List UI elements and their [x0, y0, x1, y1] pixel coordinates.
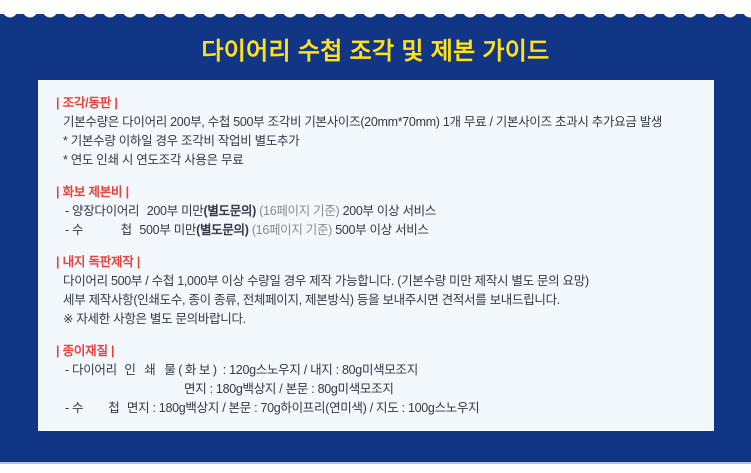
section-heading-engraving: | 조각/동판 | [56, 94, 714, 113]
guide-content-card: | 조각/동판 | 기본수량은 다이어리 200부, 수첩 500부 조각비 기… [38, 80, 714, 431]
guide-page: 다이어리 수첩 조각 및 제본 가이드 | 조각/동판 | 기본수량은 다이어리… [0, 0, 751, 473]
section-engraving: | 조각/동판 | 기본수량은 다이어리 200부, 수첩 500부 조각비 기… [56, 94, 714, 170]
binding-row-label: - 수 [65, 223, 83, 237]
binding-row-note: (별도문의) [203, 204, 256, 218]
paper-row: - 다이어리 인 쇄 물(화보) : 120g스노우지 / 내지 : 80g미색… [56, 361, 714, 380]
paper-row-label: - 다이어리 [65, 363, 117, 377]
section-paper-material: | 종이재질 | - 다이어리 인 쇄 물(화보) : 120g스노우지 / 내… [56, 342, 714, 418]
section-line: * 기본수량 이하일 경우 조각비 작업비 별도추가 [56, 132, 714, 151]
section-line: 세부 제작사항(인쇄도수, 종이 종류, 전체페이지, 제본방식) 등을 보내주… [56, 291, 714, 310]
section-line: * 연도 인쇄 시 연도조각 사용은 무료 [56, 151, 714, 170]
section-custom-inner-print: | 내지 독판제작 | 다이어리 500부 / 수첩 1,000부 이상 수량일… [56, 253, 714, 329]
scallop-wave-decoration [0, 0, 751, 24]
binding-row-note: (별도문의) [196, 223, 249, 237]
binding-row-qty: 500부 미만 [139, 223, 196, 237]
section-line: 다이어리 500부 / 수첩 1,000부 이상 수량일 경우 제작 가능합니다… [56, 272, 714, 291]
section-line: 기본수량은 다이어리 200부, 수첩 500부 조각비 기본사이즈(20mm*… [56, 113, 714, 132]
binding-row-service: 500부 이상 서비스 [335, 223, 429, 237]
section-heading-paper-material: | 종이재질 | [56, 342, 714, 361]
paper-row: 면지 : 180g백상지 / 본문 : 80g미색모조지 [56, 380, 714, 399]
paper-row-label: - 수 [65, 401, 83, 415]
binding-row-basis: (16페이지 기준) [259, 204, 339, 218]
section-heading-binding-cost: | 화보 제본비 | [56, 183, 714, 202]
binding-row-label2: 첩 [121, 223, 132, 237]
binding-row-label: - 양장다이어리 [65, 204, 139, 218]
binding-row-service: 200부 이상 서비스 [343, 204, 437, 218]
binding-row: - 수 첩 500부 미만(별도문의) (16페이지 기준) 500부 이상 서… [56, 221, 714, 240]
paper-row-value: : 120g스노우지 / 내지 : 80g미색모조지 [223, 363, 418, 377]
binding-row-basis: (16페이지 기준) [252, 223, 332, 237]
section-binding-cost: | 화보 제본비 | - 양장다이어리 200부 미만(별도문의) (16페이지… [56, 183, 714, 240]
bottom-white-strip [0, 464, 751, 473]
page-title: 다이어리 수첩 조각 및 제본 가이드 [0, 37, 751, 67]
paper-row-label2: 첩 [108, 401, 119, 415]
section-line: ※ 자세한 사항은 별도 문의바랍니다. [56, 310, 714, 329]
binding-row-qty: 200부 미만 [147, 204, 204, 218]
section-heading-custom-inner-print: | 내지 독판제작 | [56, 253, 714, 272]
paper-row-value: 면지 : 180g백상지 / 본문 : 70g하이프리(연미색) / 지도 : … [127, 401, 480, 415]
paper-row-subject: 인 쇄 물(화보) [124, 363, 219, 377]
paper-row: - 수 첩 면지 : 180g백상지 / 본문 : 70g하이프리(연미색) /… [56, 399, 714, 418]
binding-row: - 양장다이어리 200부 미만(별도문의) (16페이지 기준) 200부 이… [56, 202, 714, 221]
